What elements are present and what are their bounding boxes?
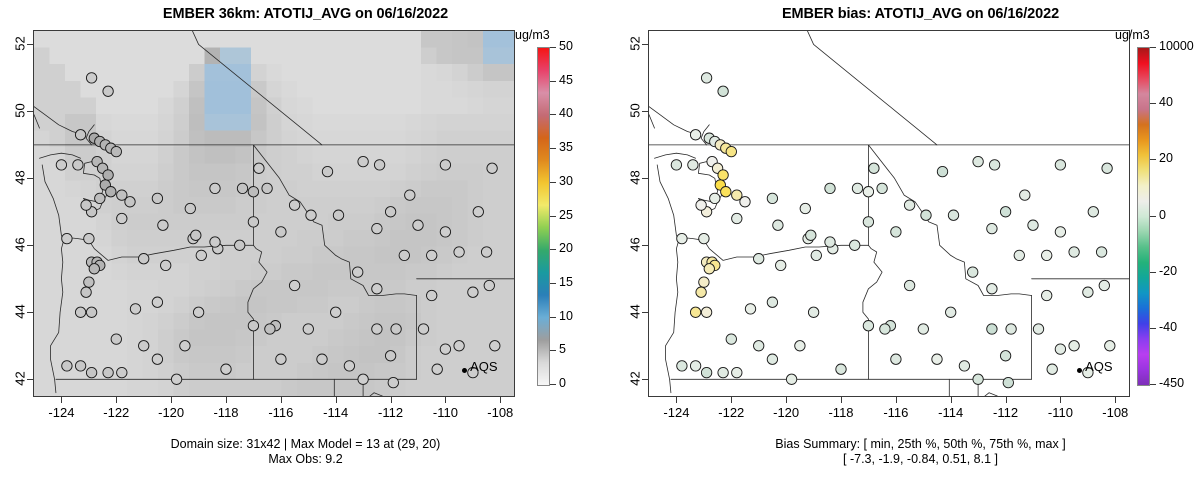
caption-line-2-bias: [ -7.3, -1.9, -0.84, 0.51, 8.1 ] <box>648 452 1193 467</box>
colorbar-tick <box>1150 272 1156 273</box>
colorbar-tick-label: 45 <box>559 73 573 87</box>
colorbar-tick <box>550 81 556 82</box>
colorbar-model <box>537 47 550 386</box>
x-tick-label: -116 <box>874 405 918 420</box>
y-tick-label: 46 <box>13 228 28 262</box>
panel-title-model: EMBER 36km: ATOTIJ_AVG on 06/16/2022 <box>33 6 578 22</box>
colorbar-tick-label: 10 <box>559 309 573 323</box>
colorbar-tick <box>1150 328 1156 329</box>
colorbar-tick-label: 20 <box>1159 151 1173 165</box>
caption-line-2-model: Max Obs: 9.2 <box>33 452 578 467</box>
y-tick <box>27 312 33 313</box>
x-tick <box>171 397 172 403</box>
colorbar-units-model: ug/m3 <box>515 28 550 42</box>
y-tick <box>642 379 648 380</box>
x-tick-label: -124 <box>654 405 698 420</box>
colorbar-tick <box>1150 384 1156 385</box>
x-tick-label: -124 <box>39 405 83 420</box>
x-tick <box>676 397 677 403</box>
y-tick <box>642 111 648 112</box>
x-tick-label: -122 <box>94 405 138 420</box>
colorbar-tick <box>1150 216 1156 217</box>
colorbar-bias <box>1137 47 1150 386</box>
colorbar-tick <box>550 216 556 217</box>
colorbar-tick <box>550 148 556 149</box>
map-canvas-bias <box>649 31 1129 396</box>
x-tick <box>731 397 732 403</box>
aqs-legend-label: AQS <box>1085 359 1112 374</box>
x-tick <box>281 397 282 403</box>
x-tick <box>116 397 117 403</box>
caption-line-1-bias: Bias Summary: [ min, 25th %, 50th %, 75t… <box>648 437 1193 452</box>
aqs-legend-dot <box>462 368 467 373</box>
x-tick-label: -116 <box>259 405 303 420</box>
colorbar-tick-label: 40 <box>559 106 573 120</box>
y-tick-label: 50 <box>13 94 28 128</box>
colorbar-tick <box>550 384 556 385</box>
y-tick-label: 44 <box>13 295 28 329</box>
x-tick-label: -110 <box>423 405 467 420</box>
colorbar-tick <box>550 47 556 48</box>
x-tick-label: -112 <box>369 405 413 420</box>
y-tick <box>27 178 33 179</box>
x-tick-label: -108 <box>1093 405 1137 420</box>
y-tick <box>642 312 648 313</box>
x-tick <box>391 397 392 403</box>
y-tick <box>642 44 648 45</box>
x-tick-label: -118 <box>204 405 248 420</box>
colorbar-tick-label: -40 <box>1159 320 1177 334</box>
x-tick <box>226 397 227 403</box>
colorbar-tick <box>550 350 556 351</box>
x-tick <box>951 397 952 403</box>
colorbar-tick-label: 15 <box>559 275 573 289</box>
x-tick-label: -114 <box>929 405 973 420</box>
colorbar-tick <box>550 114 556 115</box>
x-tick <box>841 397 842 403</box>
colorbar-tick <box>550 249 556 250</box>
map-frame-bias <box>648 30 1130 397</box>
x-tick-label: -118 <box>819 405 863 420</box>
y-tick-label: 50 <box>628 94 643 128</box>
colorbar-tick-label: 0 <box>1159 208 1166 222</box>
y-tick-label: 46 <box>628 228 643 262</box>
y-tick <box>642 178 648 179</box>
y-tick <box>27 245 33 246</box>
colorbar-tick-label: -450 <box>1159 376 1184 390</box>
colorbar-tick-label: 20 <box>559 241 573 255</box>
colorbar-tick <box>550 182 556 183</box>
x-tick <box>500 397 501 403</box>
y-tick-label: 48 <box>628 161 643 195</box>
caption-line-1-model: Domain size: 31x42 | Max Model = 13 at (… <box>33 437 578 452</box>
x-tick-label: -120 <box>149 405 193 420</box>
y-tick-label: 44 <box>628 295 643 329</box>
y-tick-label: 42 <box>628 362 643 396</box>
map-frame-model <box>33 30 515 397</box>
y-tick <box>27 111 33 112</box>
colorbar-tick-label: 30 <box>559 174 573 188</box>
x-tick <box>896 397 897 403</box>
x-tick-label: -108 <box>478 405 522 420</box>
colorbar-tick-label: 10000 <box>1159 39 1194 53</box>
colorbar-tick-label: -20 <box>1159 264 1177 278</box>
x-tick <box>445 397 446 403</box>
colorbar-tick-label: 0 <box>559 376 566 390</box>
colorbar-tick <box>1150 103 1156 104</box>
y-tick-label: 48 <box>13 161 28 195</box>
colorbar-tick <box>550 283 556 284</box>
x-tick <box>61 397 62 403</box>
aqs-legend-label: AQS <box>470 359 497 374</box>
panel-title-bias: EMBER bias: ATOTIJ_AVG on 06/16/2022 <box>648 6 1193 22</box>
x-tick <box>786 397 787 403</box>
aqs-legend-dot <box>1077 368 1082 373</box>
x-tick <box>336 397 337 403</box>
x-tick-label: -120 <box>764 405 808 420</box>
y-tick-label: 52 <box>13 27 28 61</box>
panel-model: EMBER 36km: ATOTIJ_AVG on 06/16/2022 AQS… <box>0 0 600 479</box>
map-canvas-model <box>34 31 514 396</box>
colorbar-tick-label: 25 <box>559 208 573 222</box>
x-tick-label: -122 <box>709 405 753 420</box>
y-tick <box>27 44 33 45</box>
x-tick-label: -114 <box>314 405 358 420</box>
x-tick-label: -112 <box>984 405 1028 420</box>
colorbar-tick-label: 5 <box>559 342 566 356</box>
colorbar-tick <box>550 317 556 318</box>
y-tick-label: 52 <box>628 27 643 61</box>
colorbar-tick-label: 35 <box>559 140 573 154</box>
colorbar-tick <box>1150 159 1156 160</box>
colorbar-tick-label: 50 <box>559 39 573 53</box>
x-tick <box>1115 397 1116 403</box>
x-tick <box>1060 397 1061 403</box>
y-tick-label: 42 <box>13 362 28 396</box>
colorbar-tick <box>1150 47 1156 48</box>
colorbar-units-bias: ug/m3 <box>1115 28 1150 42</box>
figure-root: EMBER 36km: ATOTIJ_AVG on 06/16/2022 AQS… <box>0 0 1200 479</box>
y-tick <box>642 245 648 246</box>
x-tick-label: -110 <box>1038 405 1082 420</box>
colorbar-tick-label: 40 <box>1159 95 1173 109</box>
y-tick <box>27 379 33 380</box>
panel-bias: EMBER bias: ATOTIJ_AVG on 06/16/2022 AQS… <box>600 0 1200 479</box>
x-tick <box>1006 397 1007 403</box>
